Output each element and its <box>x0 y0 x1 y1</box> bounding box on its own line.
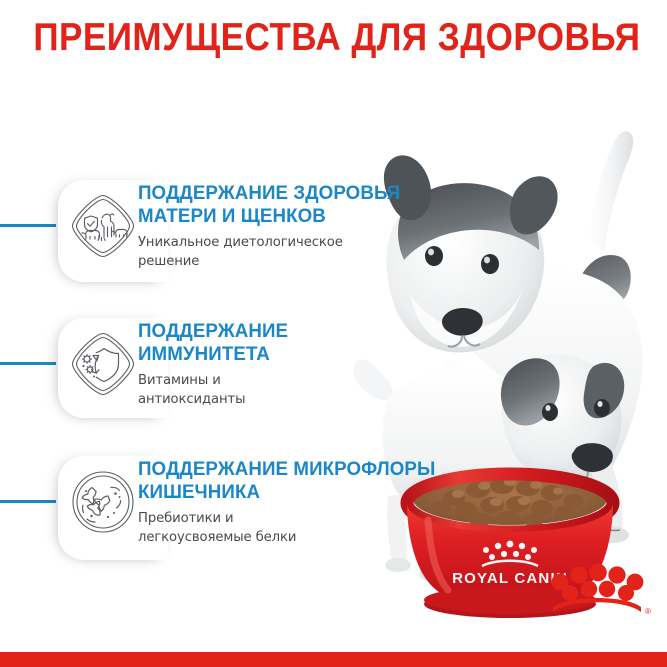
immunity-shield-icon <box>70 331 136 397</box>
bottom-red-bar <box>0 652 667 667</box>
benefit-heading-1: ПОДДЕРЖАНИЕ ЗДОРОВЬЯ МАТЕРИ И ЩЕНКОВ <box>138 182 400 228</box>
promo-banner: ПРЕИМУЩЕСТВА ДЛЯ ЗДОРОВЬЯ <box>0 0 667 667</box>
product-photo: ROYAL CANIN <box>350 80 667 640</box>
benefit-heading-2: ПОДДЕРЖАНИЕ ИММУНИТЕТА <box>138 320 288 366</box>
mother-and-puppies-shield-icon <box>70 193 136 259</box>
benefit-block-3: ПОДДЕРЖАНИЕ МИКРОФЛОРЫ КИШЕЧНИКА Пребиот… <box>138 458 448 547</box>
benefit-subtext-3: Пребиотики и легкоусвояемые белки <box>138 509 448 547</box>
benefit-block-2: ПОДДЕРЖАНИЕ ИММУНИТЕТА Витамины и антиок… <box>138 320 294 409</box>
page-title: ПРЕИМУЩЕСТВА ДЛЯ ЗДОРОВЬЯ <box>33 18 633 59</box>
gut-microflora-icon <box>70 469 136 535</box>
benefit-subtext-2: Витамины и антиоксиданты <box>138 371 294 409</box>
royal-canin-crown-logo: ® <box>543 563 651 627</box>
benefit-subtext-1: Уникальное диетологическое решение <box>138 233 411 271</box>
benefit-block-1: ПОДДЕРЖАНИЕ ЗДОРОВЬЯ МАТЕРИ И ЩЕНКОВ Уни… <box>138 182 411 271</box>
benefit-heading-3: ПОДДЕРЖАНИЕ МИКРОФЛОРЫ КИШЕЧНИКА <box>138 458 435 504</box>
connector-line-3 <box>0 500 56 503</box>
trademark-symbol: ® <box>645 607 651 616</box>
connector-line-1 <box>0 224 56 227</box>
connector-line-2 <box>0 362 56 365</box>
